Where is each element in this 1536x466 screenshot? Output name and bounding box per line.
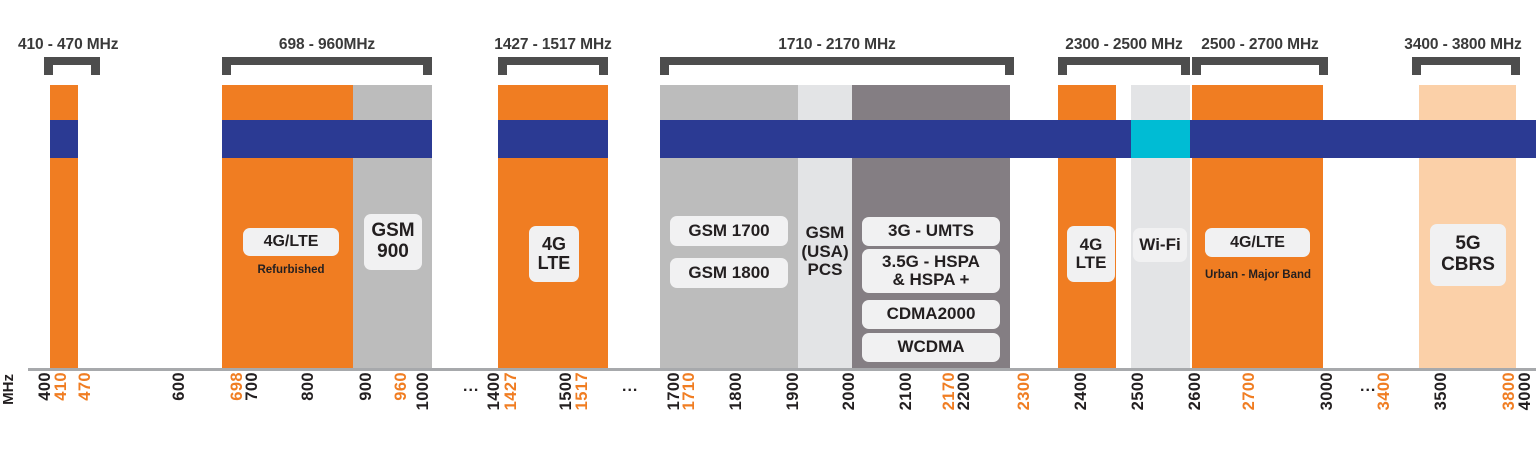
bracket-cap-left <box>1192 57 1201 75</box>
bracket-label-2300-2500: 2300 - 2500 MHz <box>1058 36 1190 54</box>
pill-4g-lte-1427[interactable]: 4G LTE <box>529 226 579 282</box>
bracket-cap-right <box>1511 57 1520 75</box>
axis-break-3: ... <box>1360 378 1376 396</box>
axis-break-2: ... <box>622 378 638 396</box>
pill-5g-cbrs[interactable]: 5G CBRS <box>1430 224 1506 286</box>
coverage-strip-2500 <box>1190 120 1536 158</box>
bracket-shape-410-470 <box>44 57 100 75</box>
bracket-bar <box>1192 57 1328 65</box>
pill-gsm-1700[interactable]: GSM 1700 <box>670 216 788 246</box>
pill-5g-cbrs-text: 5G CBRS <box>1441 234 1495 275</box>
pill-wifi[interactable]: Wi-Fi <box>1133 228 1187 262</box>
bracket-cap-right <box>1181 57 1190 75</box>
coverage-strip-698 <box>222 120 432 158</box>
bracket-cap-left <box>44 57 53 75</box>
pill-4g-lte-refurbished[interactable]: 4G/LTE <box>243 228 339 256</box>
axis-tick-1900: 1900 <box>784 372 803 410</box>
axis-tick-2400: 2400 <box>1072 372 1091 410</box>
coverage-strip-1710 <box>660 120 1132 158</box>
axis-tick-2000: 2000 <box>840 372 859 410</box>
axis-tick-470: 470 <box>76 372 95 401</box>
pill-4g-lte-2300-text: 4G LTE <box>1076 236 1107 273</box>
axis-break-1: ... <box>463 378 479 396</box>
bracket-cap-right <box>423 57 432 75</box>
bracket-bar <box>1412 57 1520 65</box>
bracket-bar <box>222 57 432 65</box>
bracket-bar <box>498 57 608 65</box>
bracket-label-698-960: 698 - 960MHz <box>222 36 432 54</box>
axis-tick-2100: 2100 <box>897 372 916 410</box>
pill-gsm-usa-pcs[interactable]: GSM (USA) PCS <box>800 216 850 288</box>
pill-gsm-900[interactable]: GSM 900 <box>364 214 422 270</box>
axis-title-mhz: MHz <box>0 374 17 405</box>
axis-tick-3400: 3400 <box>1375 372 1394 410</box>
axis-line <box>28 368 1536 371</box>
bracket-cap-left <box>222 57 231 75</box>
bracket-label-1710-2170: 1710 - 2170 MHz <box>660 36 1014 54</box>
bracket-shape-3400-3800 <box>1412 57 1520 75</box>
pill-gsm-1800[interactable]: GSM 1800 <box>670 258 788 288</box>
axis-tick-2300: 2300 <box>1015 372 1034 410</box>
sublabel-refurbished: Refurbished <box>228 264 354 277</box>
bracket-shape-1710-2170 <box>660 57 1014 75</box>
bracket-bar <box>660 57 1014 65</box>
bracket-cap-right <box>1005 57 1014 75</box>
axis-tick-1710: 1710 <box>680 372 699 410</box>
wifi-strip-2400 <box>1131 120 1190 158</box>
axis-tick-1517: 1517 <box>573 372 592 410</box>
bracket-cap-left <box>1412 57 1421 75</box>
axis-tick-2600: 2600 <box>1186 372 1205 410</box>
bracket-cap-left <box>660 57 669 75</box>
axis-tick-1800: 1800 <box>727 372 746 410</box>
axis-tick-1000: 1000 <box>414 372 433 410</box>
axis-tick-410: 410 <box>52 372 71 401</box>
pill-cdma2000[interactable]: CDMA2000 <box>862 300 1000 329</box>
axis-tick-800: 800 <box>299 372 318 401</box>
bracket-label-2500-2700: 2500 - 2700 MHz <box>1192 36 1328 54</box>
pill-4g-lte-2500[interactable]: 4G/LTE <box>1205 228 1310 257</box>
bracket-shape-698-960 <box>222 57 432 75</box>
axis-tick-2200: 2200 <box>955 372 974 410</box>
axis-tick-4000: 4000 <box>1516 372 1535 410</box>
axis-tick-600: 600 <box>170 372 189 401</box>
pill-35g-hspa[interactable]: 3.5G - HSPA & HSPA + <box>862 249 1000 293</box>
bracket-label-410-470: 410 - 470 MHz <box>18 36 110 54</box>
pill-wcdma[interactable]: WCDMA <box>862 333 1000 362</box>
bracket-cap-right <box>91 57 100 75</box>
pill-gsm-900-text: GSM 900 <box>371 221 414 262</box>
pill-35g-hspa-text: 3.5G - HSPA & HSPA + <box>882 253 980 290</box>
bracket-shape-2300-2500 <box>1058 57 1190 75</box>
axis-tick-2700: 2700 <box>1240 372 1259 410</box>
axis-tick-960: 960 <box>392 372 411 401</box>
spectrum-chart: 410 - 470 MHz 698 - 960MHz 1427 - 1517 M… <box>0 0 1536 466</box>
axis-tick-2500: 2500 <box>1129 372 1148 410</box>
bracket-cap-left <box>498 57 507 75</box>
pill-4g-lte-1427-text: 4G LTE <box>538 235 571 274</box>
bracket-cap-right <box>599 57 608 75</box>
axis-tick-900: 900 <box>357 372 376 401</box>
axis-tick-3500: 3500 <box>1432 372 1451 410</box>
bracket-cap-left <box>1058 57 1067 75</box>
axis-tick-1427: 1427 <box>502 372 521 410</box>
bracket-cap-right <box>1319 57 1328 75</box>
coverage-strip-410 <box>50 120 78 158</box>
axis-tick-700: 700 <box>243 372 262 401</box>
pill-4g-lte-2300[interactable]: 4G LTE <box>1067 226 1115 282</box>
bracket-shape-1427-1517 <box>498 57 608 75</box>
pill-3g-umts[interactable]: 3G - UMTS <box>862 217 1000 246</box>
sublabel-urban-major-band: Urban - Major Band <box>1196 269 1320 282</box>
bracket-label-1427-1517: 1427 - 1517 MHz <box>488 36 618 54</box>
bracket-bar <box>1058 57 1190 65</box>
bracket-shape-2500-2700 <box>1192 57 1328 75</box>
bracket-label-3400-3800: 3400 - 3800 MHz <box>1390 36 1536 54</box>
pill-gsm-usa-pcs-text: GSM (USA) PCS <box>801 224 848 279</box>
axis-tick-3000: 3000 <box>1318 372 1337 410</box>
coverage-strip-1427 <box>498 120 608 158</box>
